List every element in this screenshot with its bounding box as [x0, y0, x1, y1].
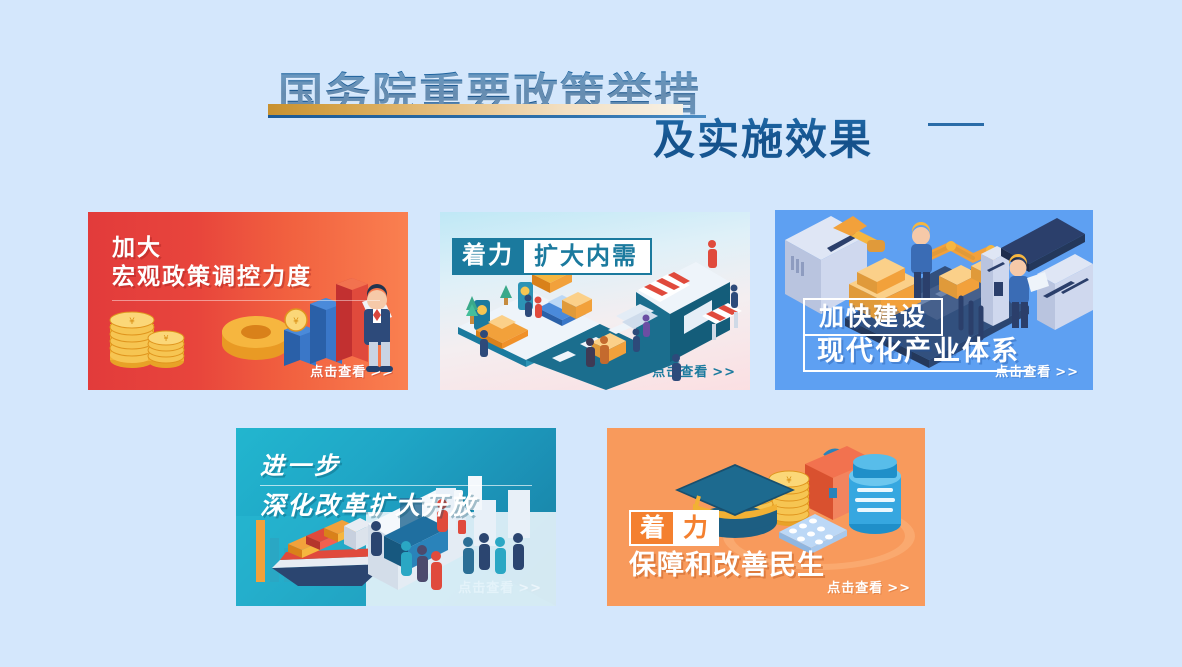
- cta-arrow-icon: >>: [712, 365, 736, 380]
- card-modern-industry-line2: 现代化产业体系: [817, 338, 1020, 366]
- card-livelihood-box-a: 着: [629, 510, 673, 546]
- title-blue-rule: [268, 115, 706, 118]
- card-livelihood[interactable]: ¥ ¥: [607, 428, 925, 606]
- card-livelihood-line1-b: 力: [683, 515, 708, 540]
- cta-label: 点击查看: [458, 581, 514, 596]
- page-header: 国务院重要政策举措 及实施效果: [0, 0, 1182, 175]
- card-expand-demand[interactable]: 着力 扩大内需 点击查看>>: [440, 212, 750, 390]
- cta-arrow-icon: >>: [1055, 365, 1079, 380]
- card-livelihood-line2: 保障和改善民生: [629, 552, 825, 579]
- card-expand-demand-line1: 着力: [462, 243, 514, 267]
- card-macro-policy-line2: 宏观政策调控力度: [112, 263, 312, 292]
- card-modern-industry-line2-frame: 现代化产业体系: [803, 336, 1030, 372]
- card-modern-industry-line1-frame: 加快建设: [803, 298, 943, 336]
- card-macro-policy-line1: 加大: [112, 234, 312, 263]
- svg-text:¥: ¥: [293, 317, 299, 327]
- cta-label: 点击查看: [652, 365, 708, 380]
- card-livelihood-title-top: 着 力: [629, 510, 719, 546]
- svg-text:¥: ¥: [754, 489, 759, 498]
- card-expand-demand-box-a: 着力: [452, 238, 524, 275]
- card-reform-opening-line2: 深化改革扩大开放: [260, 491, 532, 521]
- cta-label: 点击查看: [827, 581, 883, 596]
- page-title-line2: 及实施效果: [653, 106, 873, 167]
- cta-arrow-icon: >>: [370, 365, 394, 380]
- card-livelihood-cta[interactable]: 点击查看>>: [827, 577, 911, 596]
- cta-label: 点击查看: [310, 365, 366, 380]
- card-modern-industry-line1: 加快建设: [819, 304, 927, 329]
- card-modern-industry[interactable]: 加快建设 现代化产业体系 点击查看>>: [775, 210, 1093, 390]
- page-title: 国务院重要政策举措 及实施效果: [268, 58, 948, 168]
- card-reform-opening-divider: [260, 485, 532, 486]
- svg-text:¥: ¥: [163, 334, 168, 343]
- svg-text:¥: ¥: [129, 317, 135, 327]
- card-reform-opening-title: 进一步 深化改革扩大开放: [260, 452, 532, 521]
- cta-arrow-icon: >>: [518, 581, 542, 596]
- cta-arrow-icon: >>: [887, 581, 911, 596]
- card-expand-demand-title: 着力 扩大内需: [452, 238, 652, 275]
- card-macro-policy-divider: [112, 300, 380, 301]
- card-reform-opening-cta[interactable]: 点击查看>>: [458, 577, 542, 596]
- card-livelihood-box-b: 力: [673, 510, 719, 546]
- card-macro-policy[interactable]: ¥ ¥: [88, 212, 408, 390]
- card-macro-policy-cta[interactable]: 点击查看>>: [310, 361, 394, 380]
- card-reform-opening[interactable]: 进一步 深化改革扩大开放 点击查看>>: [236, 428, 556, 606]
- svg-text:¥: ¥: [786, 476, 792, 486]
- card-expand-demand-box-b: 扩大内需: [524, 238, 652, 275]
- card-expand-demand-line2: 扩大内需: [534, 244, 638, 268]
- card-reform-opening-line1: 进一步: [260, 452, 532, 481]
- title-end-dash: [928, 123, 984, 126]
- card-expand-demand-cta[interactable]: 点击查看>>: [652, 361, 736, 380]
- card-macro-policy-title: 加大 宏观政策调控力度: [112, 234, 312, 292]
- card-livelihood-line1-a: 着: [640, 515, 665, 540]
